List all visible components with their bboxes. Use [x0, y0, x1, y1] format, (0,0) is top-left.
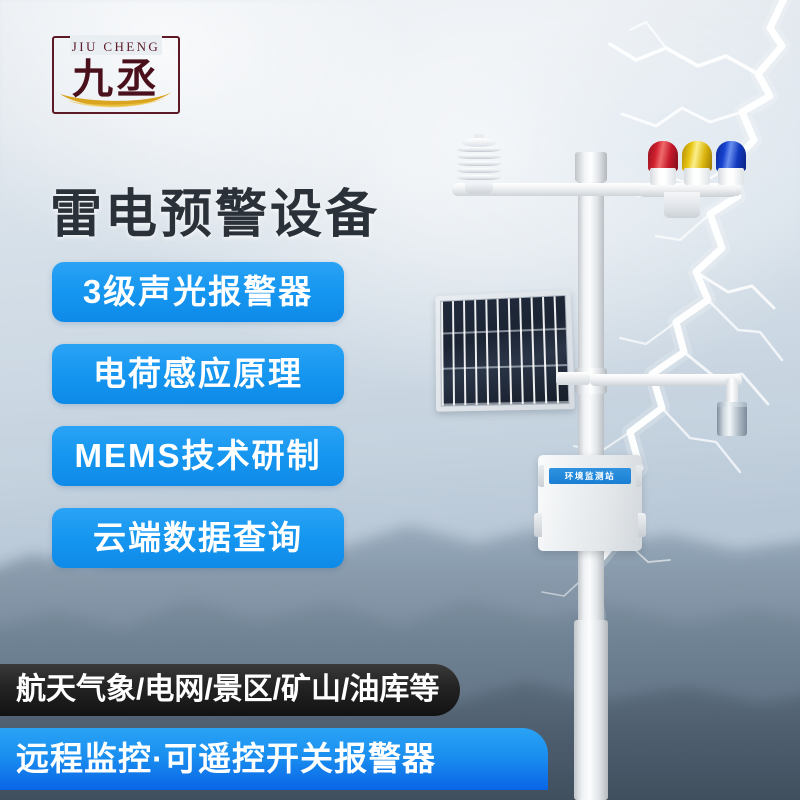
promo-banner: 远程监控·可遥控开关报警器 [0, 728, 548, 790]
feature-pill-1: 3级声光报警器 [52, 262, 344, 322]
page-title: 雷电预警设备 [50, 172, 380, 247]
feature-pill-2: 电荷感应原理 [52, 344, 344, 404]
logo-pinyin-text: JIU CHENG [52, 39, 180, 55]
brand-logo: JIU CHENG 九丞 [52, 36, 180, 114]
product-poster: 环境监测站 JIU CHENG 九丞 雷电预警设备 3级声光报警器 电荷感应原理… [0, 0, 800, 800]
feature-pill-4: 云端数据查询 [52, 508, 344, 568]
feature-pill-3: MEMS技术研制 [52, 426, 344, 486]
logo-swoosh-icon [58, 90, 174, 112]
applications-banner: 航天气象/电网/景区/矿山/油库等 [0, 664, 460, 716]
